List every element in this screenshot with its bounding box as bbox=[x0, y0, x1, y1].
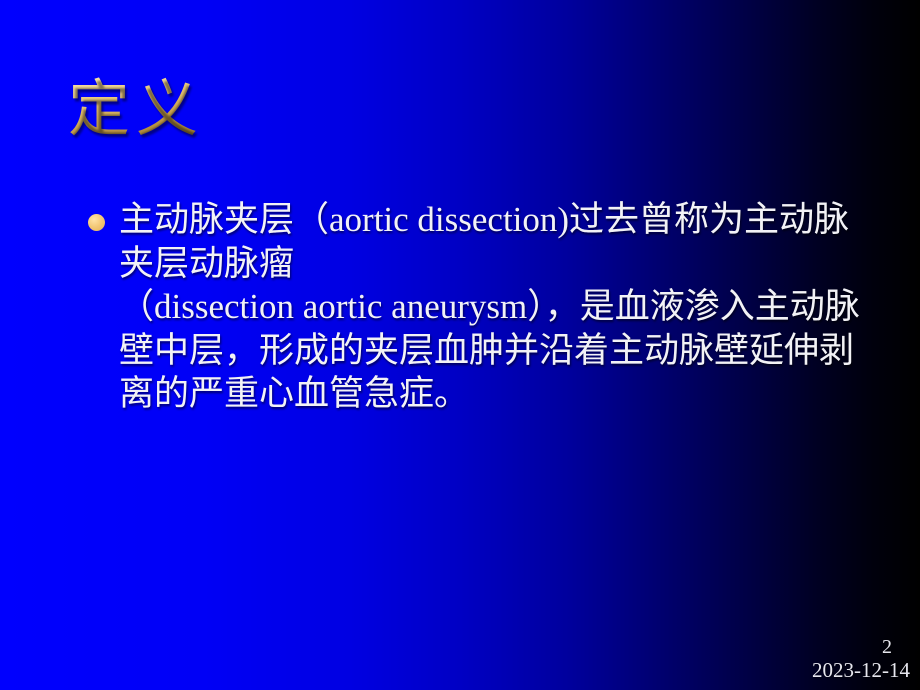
slide-body: 主动脉夹层（aortic dissection)过去曾称为主动脉夹层动脉瘤 （d… bbox=[86, 198, 868, 416]
list-item: 主动脉夹层（aortic dissection)过去曾称为主动脉夹层动脉瘤 （d… bbox=[86, 198, 868, 416]
presentation-slide: 定义 主动脉夹层（aortic dissection)过去曾称为主动脉夹层动脉瘤… bbox=[0, 0, 920, 690]
page-title: 定义 bbox=[68, 76, 204, 143]
page-number: 2 bbox=[812, 636, 910, 658]
slide-footer: 2 2023-12-14 bbox=[812, 636, 910, 682]
slide-date: 2023-12-14 bbox=[812, 658, 910, 682]
bullet-line-2: （dissection aortic aneurysm），是血液渗入主动脉壁中层… bbox=[119, 285, 868, 416]
bullet-line-1: 主动脉夹层（aortic dissection)过去曾称为主动脉夹层动脉瘤 bbox=[119, 198, 868, 285]
bullet-text: 主动脉夹层（aortic dissection)过去曾称为主动脉夹层动脉瘤 （d… bbox=[119, 198, 868, 416]
bullet-circle-icon bbox=[88, 214, 105, 231]
